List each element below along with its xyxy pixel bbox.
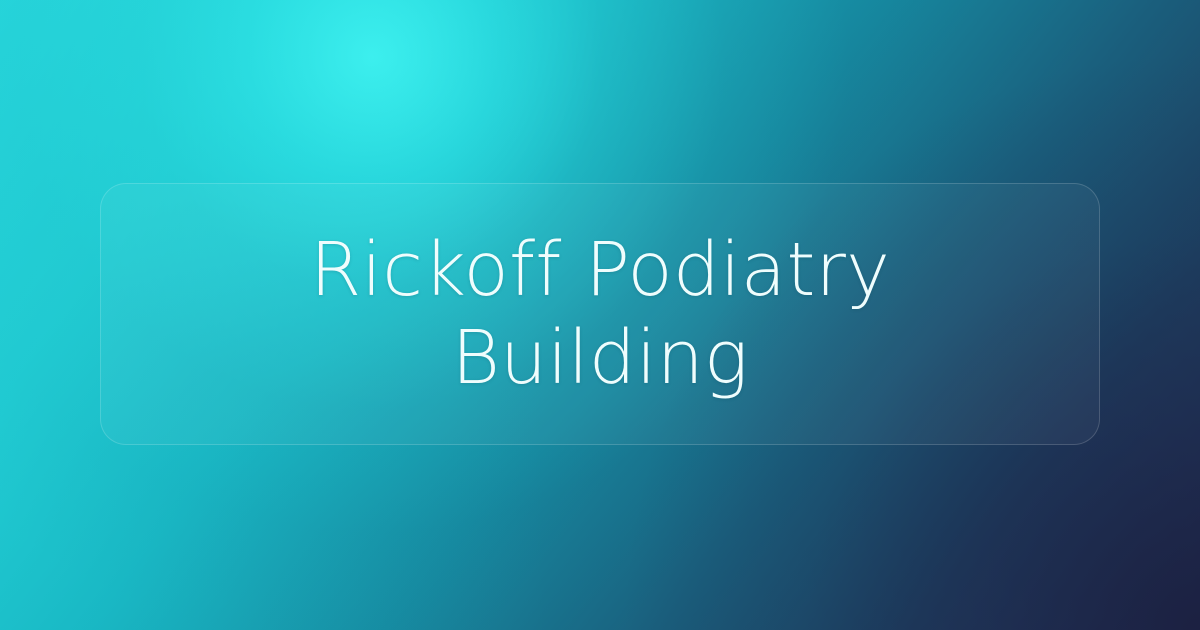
share-card-canvas: Rickoff Podiatry Building [0, 0, 1200, 630]
page-title: Rickoff Podiatry Building [160, 226, 1040, 402]
title-panel: Rickoff Podiatry Building [100, 183, 1100, 445]
